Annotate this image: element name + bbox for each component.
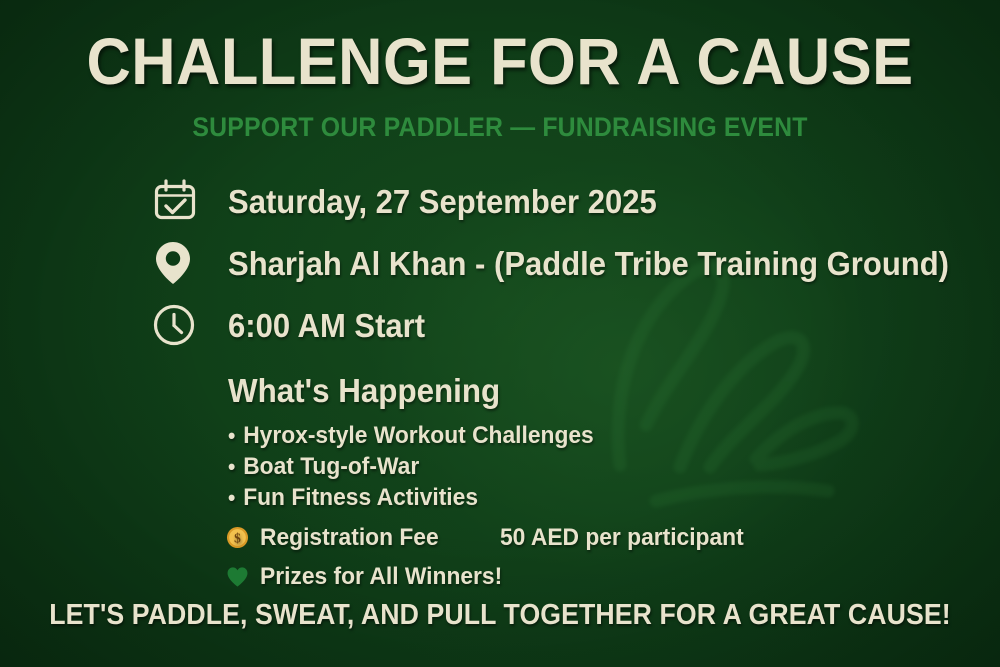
activity-label: Fun Fitness Activities [243,482,478,513]
list-item: • Boat Tug-of-War [228,451,594,482]
list-item: • Hyrox-style Workout Challenges [228,420,594,451]
poster-title: CHALLENGE FOR A CAUSE [35,28,965,94]
activity-label: Boat Tug-of-War [243,451,419,482]
registration-fee-row: $ Registration Fee 50 AED per participan… [226,518,757,557]
prizes-row: Prizes for All Winners! [226,557,757,596]
detail-row-date: Saturday, 27 September 2025 [152,170,995,232]
heart-icon [226,566,258,588]
clock-icon [152,303,202,347]
registration-fee-value: 50 AED per participant [500,524,744,552]
svg-text:$: $ [234,530,241,545]
bullet-marker-icon: • [228,420,243,451]
detail-row-time: 6:00 AM Start [152,294,995,356]
detail-text-date: Saturday, 27 September 2025 [228,185,657,218]
bullet-marker-icon: • [228,451,243,482]
registration-fee-label: Registration Fee [260,524,439,552]
detail-row-location: Sharjah Al Khan - (Paddle Tribe Training… [152,232,995,294]
detail-text-time: 6:00 AM Start [228,309,425,342]
prizes-label: Prizes for All Winners! [260,563,502,591]
activity-label: Hyrox-style Workout Challenges [243,420,594,451]
coin-dollar-icon: $ [226,526,258,549]
whats-happening-heading: What's Happening [228,374,594,407]
bullet-marker-icon: • [228,482,243,513]
list-item: • Fun Fitness Activities [228,482,594,513]
calendar-check-icon [152,178,202,224]
whats-happening-section: What's Happening • Hyrox-style Workout C… [228,374,613,513]
poster-tagline: LET'S PADDLE, SWEAT, AND PULL TOGETHER F… [40,601,960,630]
activities-list: • Hyrox-style Workout Challenges • Boat … [228,420,613,513]
poster-subtitle: SUPPORT OUR PADDLER — FUNDRAISING EVENT [40,114,960,141]
event-details-list: Saturday, 27 September 2025 Sharjah Al K… [152,170,995,356]
fees-and-prizes-section: $ Registration Fee 50 AED per participan… [226,518,757,596]
location-pin-icon [152,239,202,287]
event-poster: CHALLENGE FOR A CAUSE SUPPORT OUR PADDLE… [0,0,1000,667]
detail-text-location: Sharjah Al Khan - (Paddle Tribe Training… [228,247,949,280]
